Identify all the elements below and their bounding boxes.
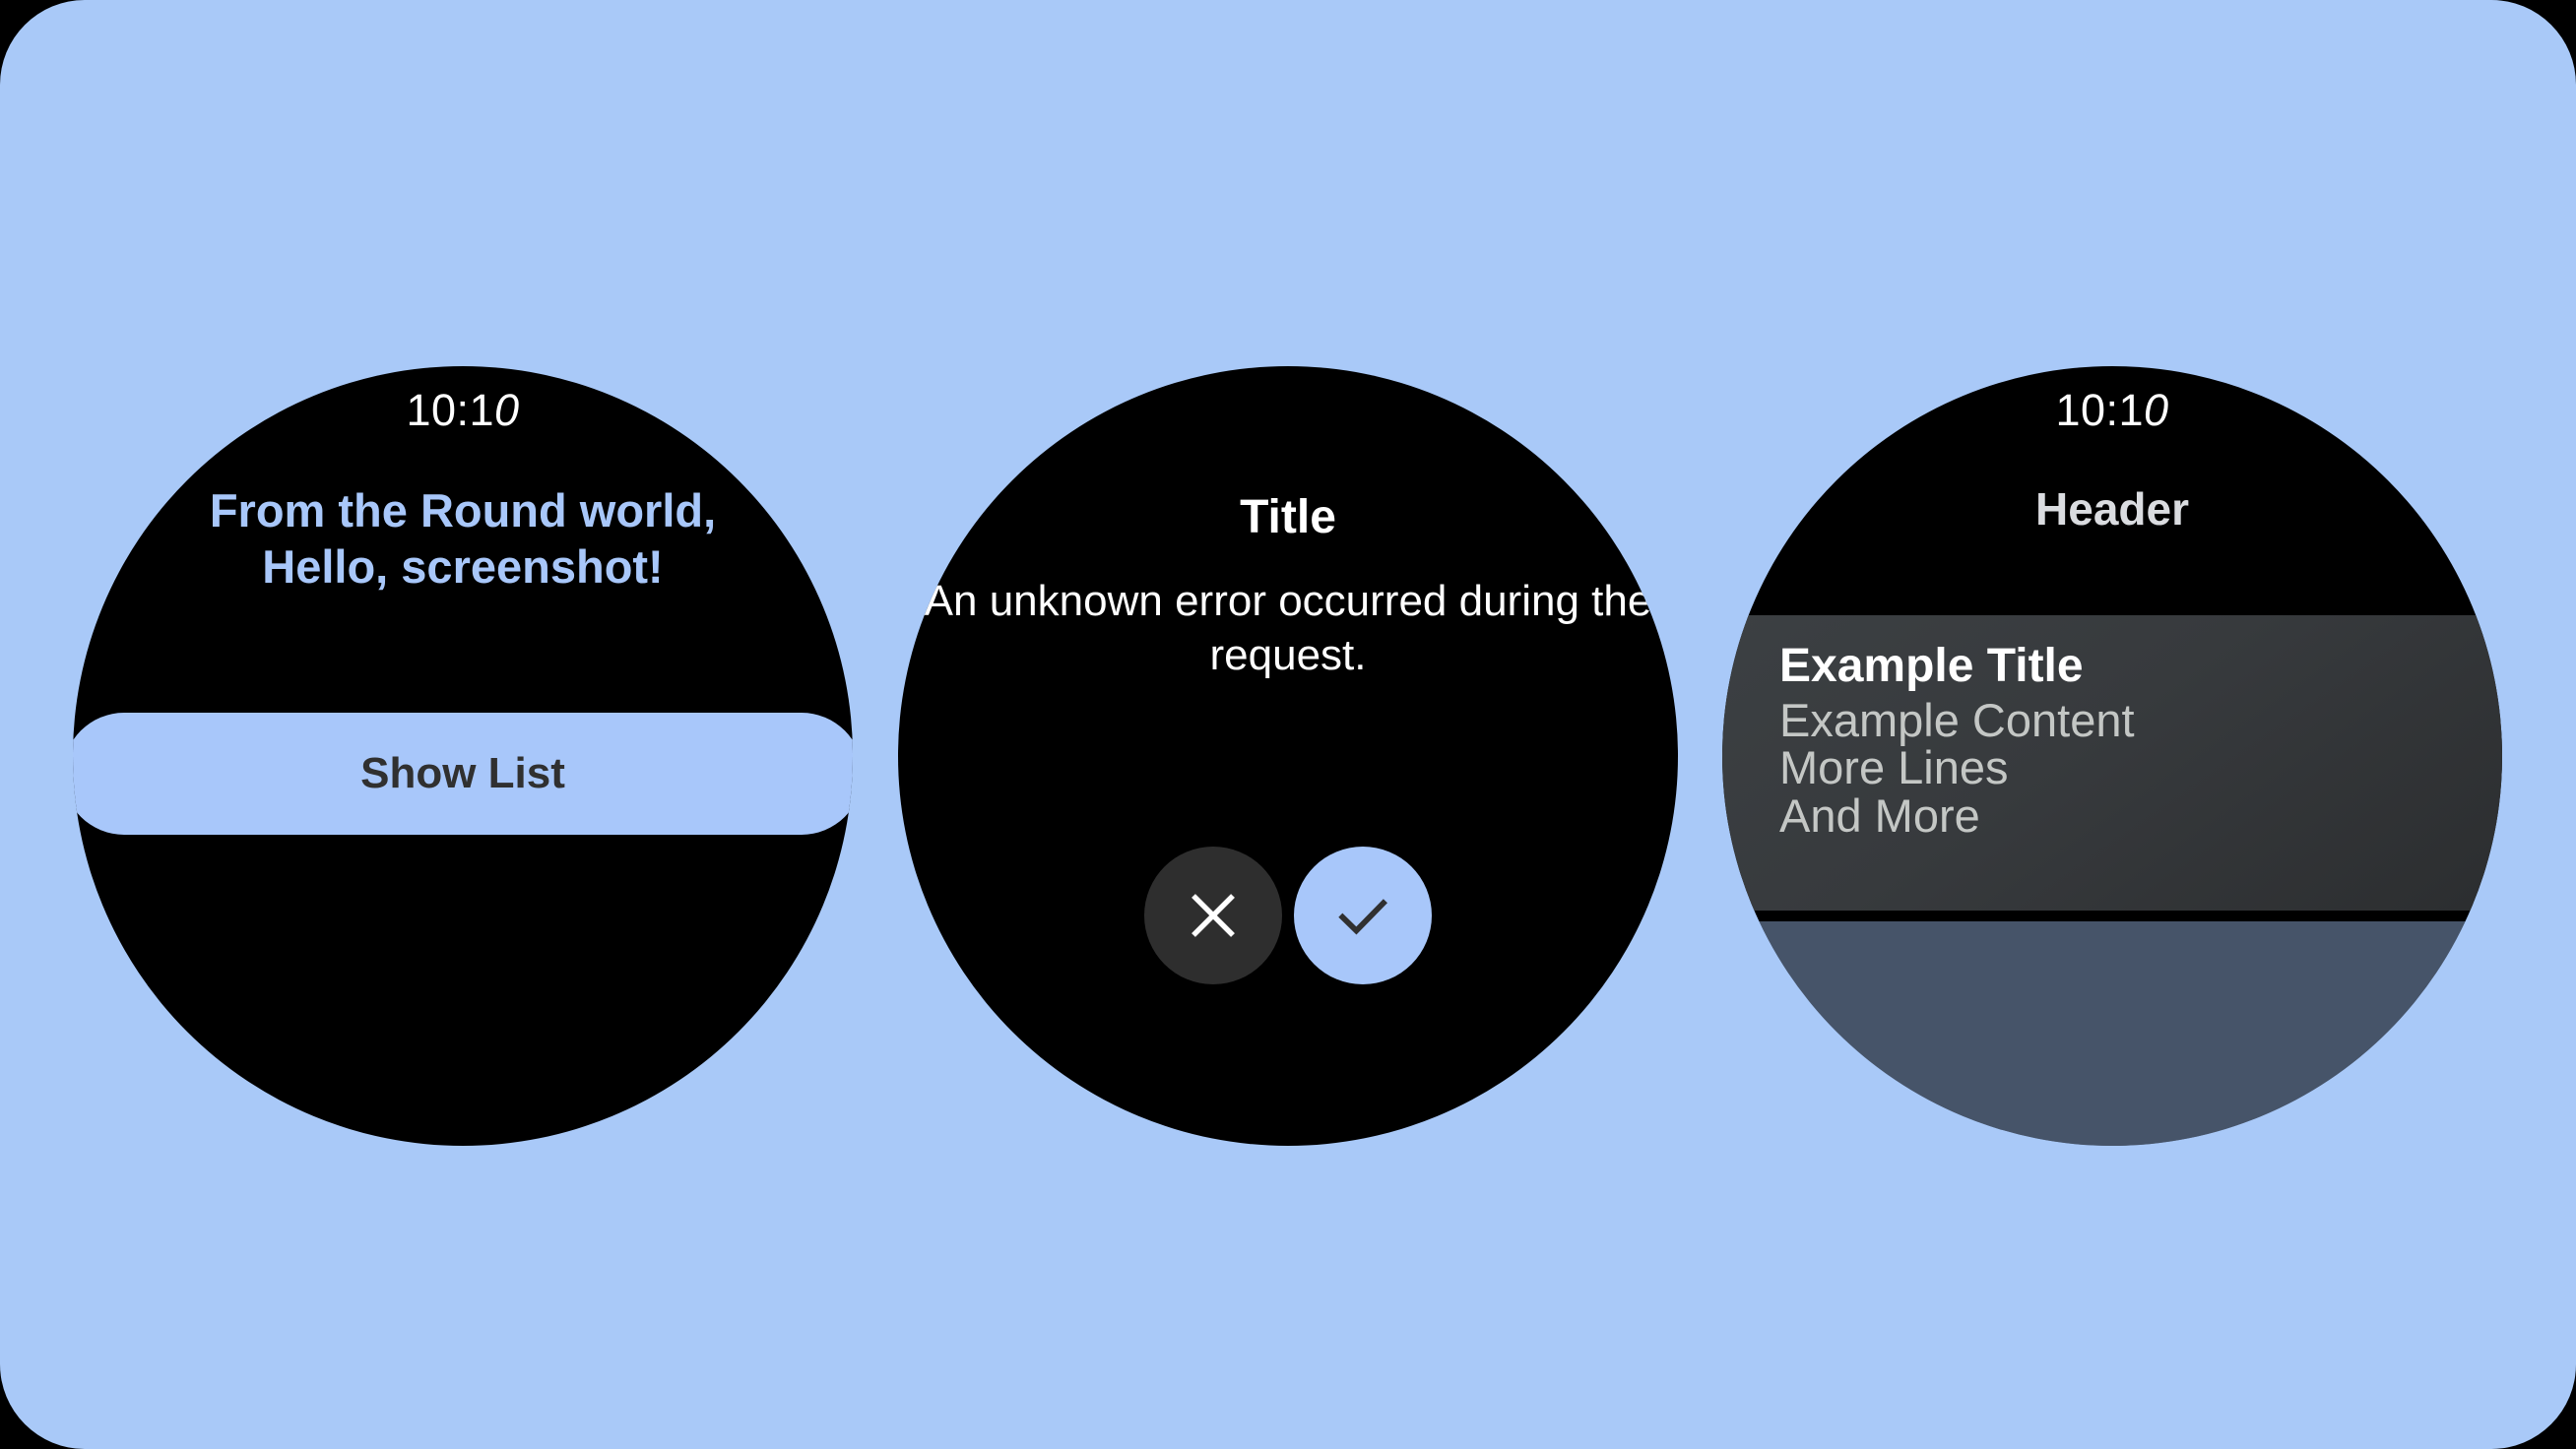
status-bar-time-suffix: 0: [2144, 385, 2169, 435]
screenshot-canvas: 10:10 From the Round world, Hello, scree…: [0, 0, 2576, 1449]
greeting-line-1: From the Round world,: [108, 482, 817, 538]
list-item-line-3: And More: [1779, 792, 2502, 840]
greeting-text: From the Round world, Hello, screenshot!: [108, 482, 817, 596]
list-item[interactable]: Example Title Example Content More Lines…: [1722, 615, 2502, 911]
list-item-line-2: More Lines: [1779, 744, 2502, 791]
list-header: Header: [1722, 486, 2502, 532]
check-icon: [1330, 883, 1395, 948]
dialog-title: Title: [898, 494, 1678, 541]
bottom-scrim-overlay: [1722, 921, 2502, 1146]
status-bar-time-prefix: 10:1: [406, 385, 494, 435]
status-bar-time: 10:10: [73, 388, 853, 432]
show-list-button[interactable]: Show List: [73, 713, 853, 835]
confirm-button[interactable]: [1294, 847, 1432, 984]
round-watch-screen-greeting: 10:10 From the Round world, Hello, scree…: [73, 366, 853, 1146]
dialog-message: An unknown error occurred during the req…: [918, 575, 1658, 682]
dialog-button-row: [898, 847, 1678, 984]
list-item-title: Example Title: [1779, 643, 2502, 691]
round-watch-screen-list: 10:10 Header Example Title Example Conte…: [1722, 366, 2502, 1146]
status-bar-time: 10:10: [1722, 388, 2502, 432]
list-item-line-1: Example Content: [1779, 697, 2502, 744]
status-bar-time-prefix: 10:1: [2055, 385, 2144, 435]
dismiss-button[interactable]: [1144, 847, 1282, 984]
close-icon: [1183, 885, 1244, 946]
round-watch-screen-dialog: Title An unknown error occurred during t…: [898, 366, 1678, 1146]
status-bar-time-suffix: 0: [494, 385, 520, 435]
greeting-line-2: Hello, screenshot!: [108, 538, 817, 595]
